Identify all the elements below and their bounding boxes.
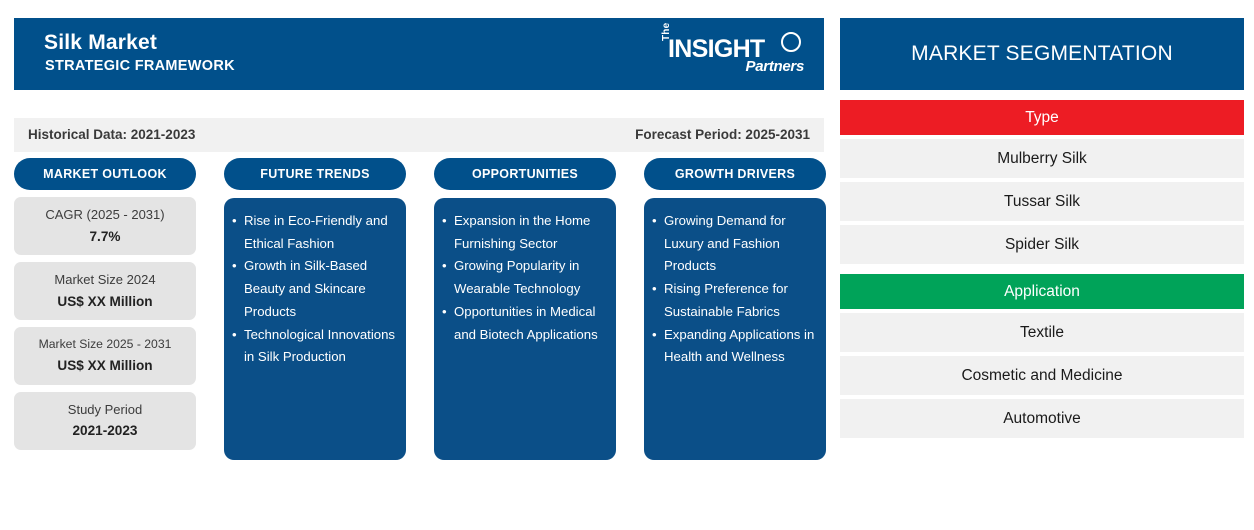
metric-label: Study Period [20, 401, 190, 419]
segmentation-item[interactable]: Cosmetic and Medicine [840, 356, 1244, 395]
column-future-trends: FUTURE TRENDS Rise in Eco-Friendly and E… [224, 158, 406, 460]
list-item: Opportunities in Medical and Biotech App… [442, 301, 606, 346]
title-bar: Silk Market STRATEGIC FRAMEWORK The INSI… [14, 18, 824, 90]
page-subtitle: STRATEGIC FRAMEWORK [45, 58, 235, 74]
column-market-outlook: MARKET OUTLOOK CAGR (2025 - 2031) 7.7% M… [14, 158, 196, 450]
metric-value: 7.7% [20, 228, 190, 246]
column-opportunities: OPPORTUNITIES Expansion in the Home Furn… [434, 158, 616, 460]
bullet-card-opportunities: Expansion in the Home Furnishing Sector … [434, 198, 616, 460]
list-item: Rising Preference for Sustainable Fabric… [652, 278, 816, 323]
metric-label: CAGR (2025 - 2031) [20, 206, 190, 224]
metric-card-study-period: Study Period 2021-2023 [14, 392, 196, 450]
list-item: Expanding Applications in Health and Wel… [652, 324, 816, 369]
pill-market-outlook[interactable]: MARKET OUTLOOK [14, 158, 196, 190]
period-strip: Historical Data: 2021-2023 Forecast Peri… [14, 118, 824, 152]
metric-value: US$ XX Million [20, 293, 190, 311]
segmentation-item[interactable]: Automotive [840, 399, 1244, 438]
list-item: Expansion in the Home Furnishing Sector [442, 210, 606, 255]
list-item: Growing Popularity in Wearable Technolog… [442, 255, 606, 300]
list-item: Growing Demand for Luxury and Fashion Pr… [652, 210, 816, 278]
list-item: Growth in Silk-Based Beauty and Skincare… [232, 255, 396, 323]
bullet-list: Growing Demand for Luxury and Fashion Pr… [652, 210, 816, 369]
magnifier-ring-icon [781, 32, 801, 52]
strategic-framework-panel: Silk Market STRATEGIC FRAMEWORK The INSI… [14, 18, 824, 458]
segmentation-item[interactable]: Mulberry Silk [840, 139, 1244, 178]
metric-card-market-size-forecast: Market Size 2025 - 2031 US$ XX Million [14, 327, 196, 384]
segmentation-group-application: Application Textile Cosmetic and Medicin… [840, 274, 1244, 438]
metric-card-cagr: CAGR (2025 - 2031) 7.7% [14, 197, 196, 255]
page-title: Silk Market [44, 31, 157, 55]
pill-future-trends[interactable]: FUTURE TRENDS [224, 158, 406, 190]
market-segmentation-panel: MARKET SEGMENTATION Type Mulberry Silk T… [840, 18, 1244, 438]
bullet-list: Expansion in the Home Furnishing Sector … [442, 210, 606, 346]
historical-data-label: Historical Data: 2021-2023 [28, 127, 195, 142]
segmentation-header-application[interactable]: Application [840, 274, 1244, 309]
insight-partners-logo: The INSIGHT Partners [656, 32, 806, 80]
segmentation-item[interactable]: Tussar Silk [840, 182, 1244, 221]
bullet-list: Rise in Eco-Friendly and Ethical Fashion… [232, 210, 396, 369]
segmentation-title: MARKET SEGMENTATION [840, 18, 1244, 90]
forecast-period-label: Forecast Period: 2025-2031 [635, 127, 810, 142]
pill-opportunities[interactable]: OPPORTUNITIES [434, 158, 616, 190]
list-item: Rise in Eco-Friendly and Ethical Fashion [232, 210, 396, 255]
metric-value: US$ XX Million [20, 357, 190, 375]
segmentation-header-type[interactable]: Type [840, 100, 1244, 135]
metric-card-market-size-2024: Market Size 2024 US$ XX Million [14, 262, 196, 320]
metric-label: Market Size 2024 [20, 271, 190, 289]
metric-value: 2021-2023 [20, 422, 190, 440]
column-growth-drivers: GROWTH DRIVERS Growing Demand for Luxury… [644, 158, 826, 460]
segmentation-item[interactable]: Textile [840, 313, 1244, 352]
list-item: Technological Innovations in Silk Produc… [232, 324, 396, 369]
logo-partners-text: Partners [746, 58, 804, 75]
bullet-card-growth-drivers: Growing Demand for Luxury and Fashion Pr… [644, 198, 826, 460]
framework-columns: MARKET OUTLOOK CAGR (2025 - 2031) 7.7% M… [14, 158, 824, 462]
segmentation-group-type: Type Mulberry Silk Tussar Silk Spider Si… [840, 100, 1244, 264]
segmentation-item[interactable]: Spider Silk [840, 225, 1244, 264]
metric-label: Market Size 2025 - 2031 [20, 336, 190, 352]
infographic-root: Silk Market STRATEGIC FRAMEWORK The INSI… [0, 0, 1254, 530]
bullet-card-future-trends: Rise in Eco-Friendly and Ethical Fashion… [224, 198, 406, 460]
pill-growth-drivers[interactable]: GROWTH DRIVERS [644, 158, 826, 190]
